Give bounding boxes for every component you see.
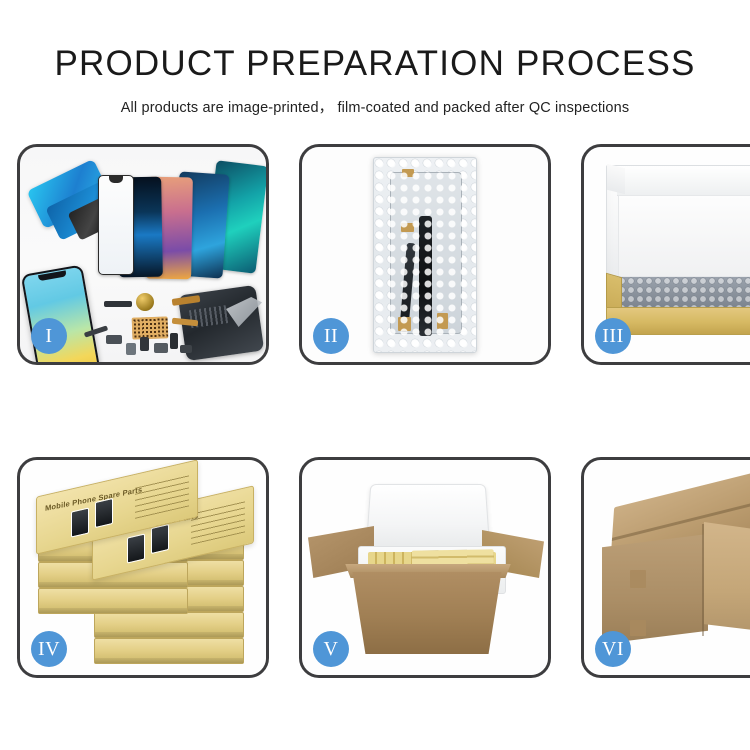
lid-top-fold: [617, 166, 750, 196]
spare-part-chip: [180, 345, 192, 353]
stacked-box: [94, 612, 244, 638]
box-label-spec-lines: [135, 474, 189, 518]
stacked-box: [94, 638, 244, 664]
spare-part-chip: [106, 335, 122, 344]
box-label-spec-lines: [191, 500, 245, 544]
step-badge-5: V: [313, 631, 349, 667]
carton-right-face: [704, 522, 750, 638]
screen-flex-cable: [419, 216, 432, 336]
process-step-1: I: [17, 144, 269, 365]
header: PRODUCT PREPARATION PROCESS All products…: [0, 0, 750, 117]
carton-tape-mark: [630, 620, 646, 636]
step-badge-2: II: [313, 318, 349, 354]
box-label-phone-image: [151, 524, 169, 554]
spare-part-ic-board: [132, 316, 169, 339]
process-step-4: Mobile Phone Spare Parts Mobile Phone Sp…: [17, 457, 269, 678]
box-label-text: Mobile Phone Spare Parts: [45, 485, 143, 513]
spare-part-chip: [154, 343, 168, 353]
page-title: PRODUCT PREPARATION PROCESS: [0, 0, 750, 81]
bubble-wrapped-contents: [618, 277, 750, 311]
tape-piece: [402, 169, 414, 177]
carton-corner-seam: [702, 524, 704, 636]
carton-tape-mark: [630, 570, 646, 588]
phone-display-white: [98, 175, 134, 275]
process-step-3: III: [581, 144, 750, 365]
process-step-6: VI: [581, 457, 750, 678]
box-label-phone-image: [71, 507, 89, 537]
box-label-phone-image: [95, 498, 113, 528]
spare-part-chip: [126, 343, 136, 355]
carton-left-face: [602, 534, 708, 644]
tape-piece: [437, 313, 448, 329]
step-badge-4: IV: [31, 631, 67, 667]
spare-part-speaker: [136, 293, 154, 311]
spare-part-chip: [104, 301, 132, 307]
step-badge-3: III: [595, 318, 631, 354]
preparation-process-infographic: PRODUCT PREPARATION PROCESS All products…: [0, 0, 750, 750]
stacked-box: [38, 588, 188, 614]
process-step-grid: I II: [17, 144, 733, 678]
step-badge-1: I: [31, 318, 67, 354]
box-label-phone-image: [127, 533, 145, 563]
page-subtitle: All products are image-printed， film-coa…: [0, 81, 750, 117]
tape-piece: [401, 223, 414, 232]
carton-body: [346, 572, 508, 654]
step-badge-6: VI: [595, 631, 631, 667]
foam-box-lid: [365, 484, 490, 553]
spare-part-chip: [170, 333, 178, 349]
tape-piece: [398, 317, 411, 331]
bubble-wrap-bag: [373, 157, 477, 353]
process-step-2: II: [299, 144, 551, 365]
box-stack: Mobile Phone Spare Parts Mobile Phone Sp…: [36, 472, 256, 668]
spare-part-chip: [140, 337, 149, 351]
process-step-5: V: [299, 457, 551, 678]
box-inner-wall: [618, 195, 750, 277]
